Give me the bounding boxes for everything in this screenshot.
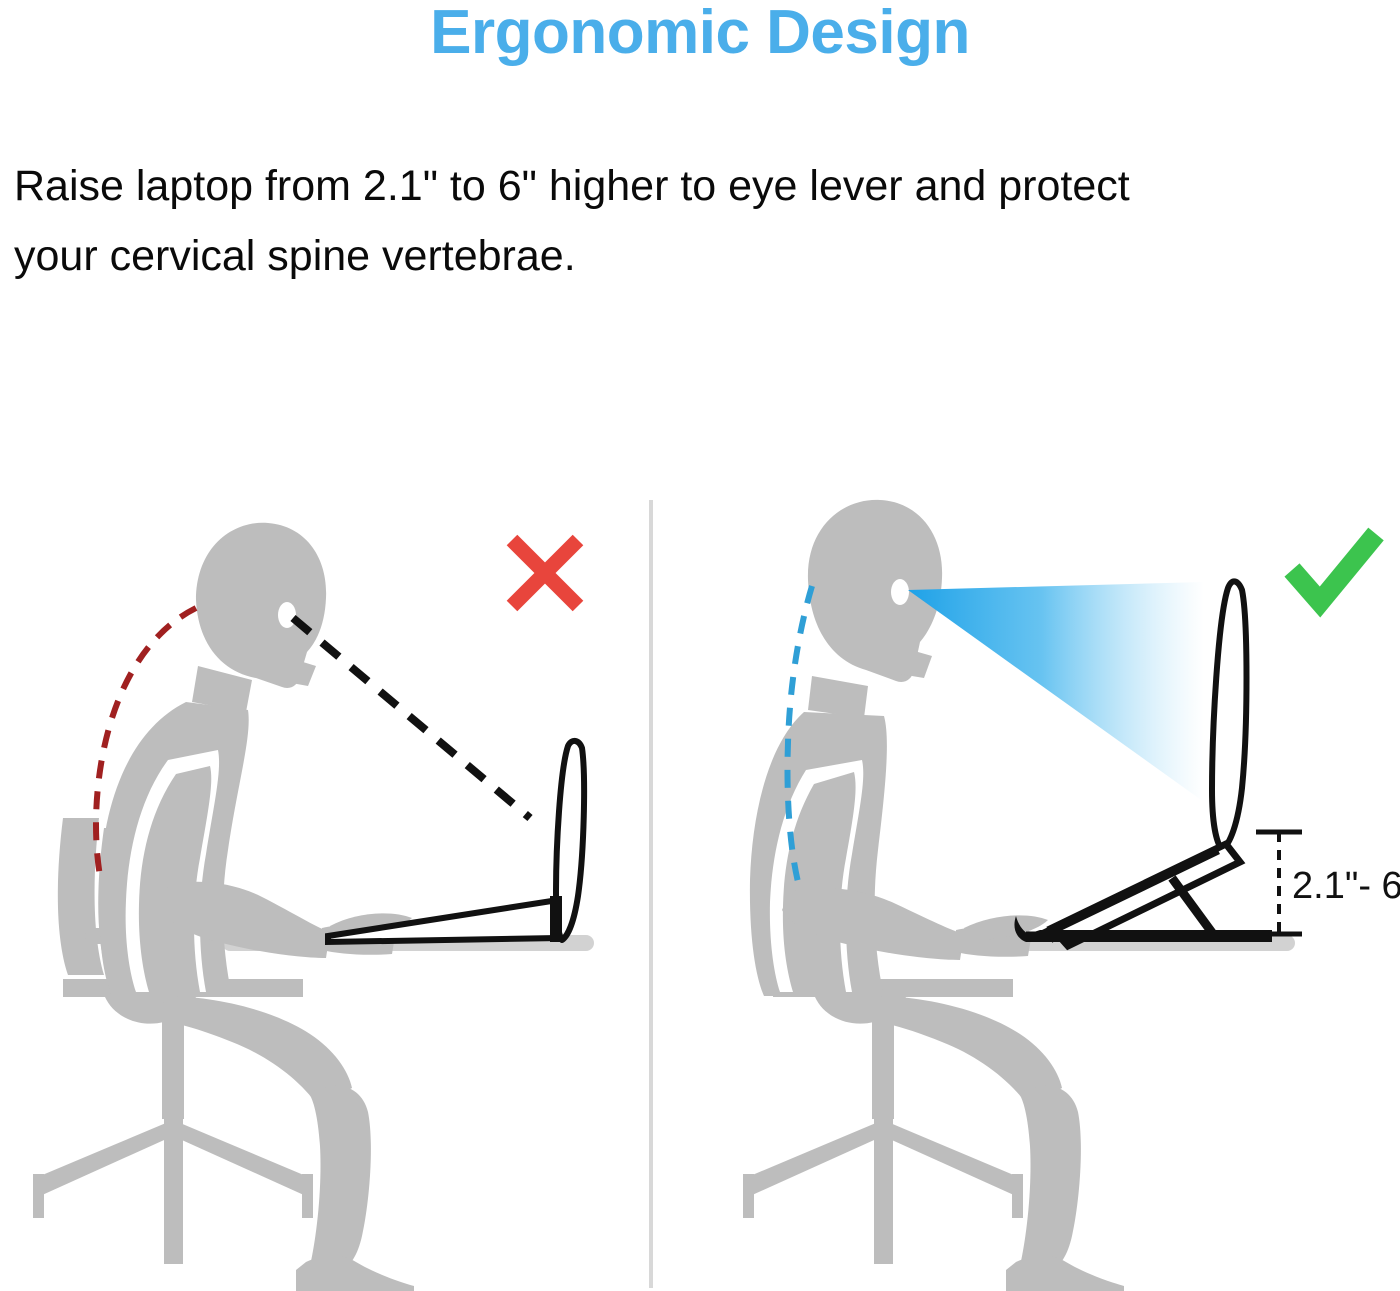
- dimension-label: 2.1"- 6": [1292, 865, 1400, 907]
- laptop-screen-right: [1212, 581, 1247, 850]
- right-panel-illustration: 2.1"- 6": [743, 500, 1400, 1291]
- eye-right: [891, 579, 909, 605]
- illustration-area: 2.1"- 6": [0, 430, 1400, 1291]
- laptop-left: [328, 741, 584, 942]
- infographic-page: Ergonomic Design Raise laptop from 2.1" …: [0, 0, 1400, 1291]
- description-line-2: your cervical spine vertebrae.: [14, 222, 1384, 292]
- cross-icon: [512, 540, 578, 606]
- check-icon: [1292, 534, 1376, 602]
- eye-left: [278, 602, 296, 628]
- height-dimension: 2.1"- 6": [1256, 832, 1400, 934]
- page-title: Ergonomic Design: [0, 0, 1400, 70]
- human-figure-left: [99, 523, 414, 1291]
- description-text: Raise laptop from 2.1" to 6" higher to e…: [14, 152, 1384, 291]
- description-line-1: Raise laptop from 2.1" to 6" higher to e…: [14, 152, 1384, 222]
- left-panel-illustration: [33, 523, 594, 1291]
- sightline-left: [293, 618, 530, 818]
- stand-top-rail: [1044, 850, 1218, 934]
- vision-cone: [908, 582, 1204, 802]
